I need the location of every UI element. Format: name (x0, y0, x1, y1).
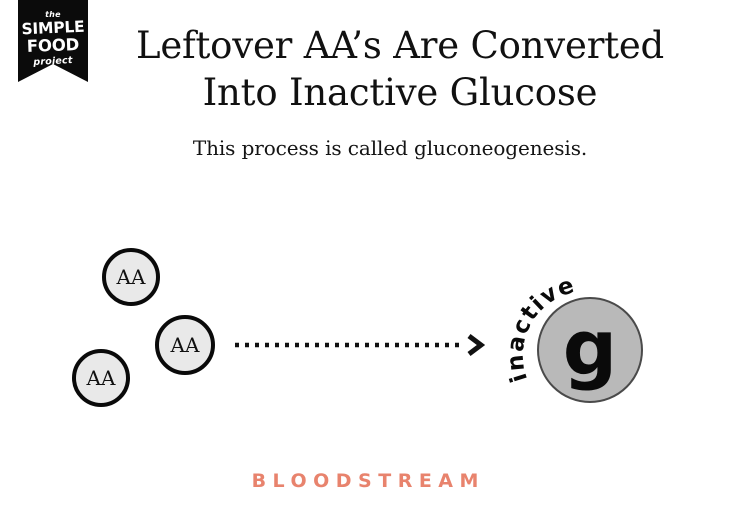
glucose-node: g inactive (500, 265, 675, 415)
amino-acid-label: AA (117, 265, 146, 289)
page-title-line-2: Into Inactive Glucose (95, 69, 705, 116)
amino-acid-node: AA (155, 315, 215, 375)
conversion-arrow (233, 334, 485, 356)
page-title-line-1: Leftover AA’s Are Converted (95, 22, 705, 69)
glucose-letter: g (537, 297, 643, 403)
amino-acid-label: AA (171, 333, 200, 357)
brand-logo-banner: the SIMPLE FOOD project (18, 0, 88, 82)
amino-acid-node: AA (72, 349, 130, 407)
amino-acid-node: AA (102, 248, 160, 306)
page-subtitle: This process is called gluconeogenesis. (95, 136, 685, 160)
page-title: Leftover AA’s Are Converted Into Inactiv… (95, 22, 705, 117)
bloodstream-caption: BLOODSTREAM (0, 470, 730, 492)
infographic-canvas: the SIMPLE FOOD project Leftover AA’s Ar… (0, 0, 730, 522)
amino-acid-label: AA (87, 366, 116, 390)
logo-word-project: project (18, 55, 88, 68)
logo-word-food: FOOD (18, 37, 89, 56)
dotted-arrow-right-icon (233, 334, 485, 356)
